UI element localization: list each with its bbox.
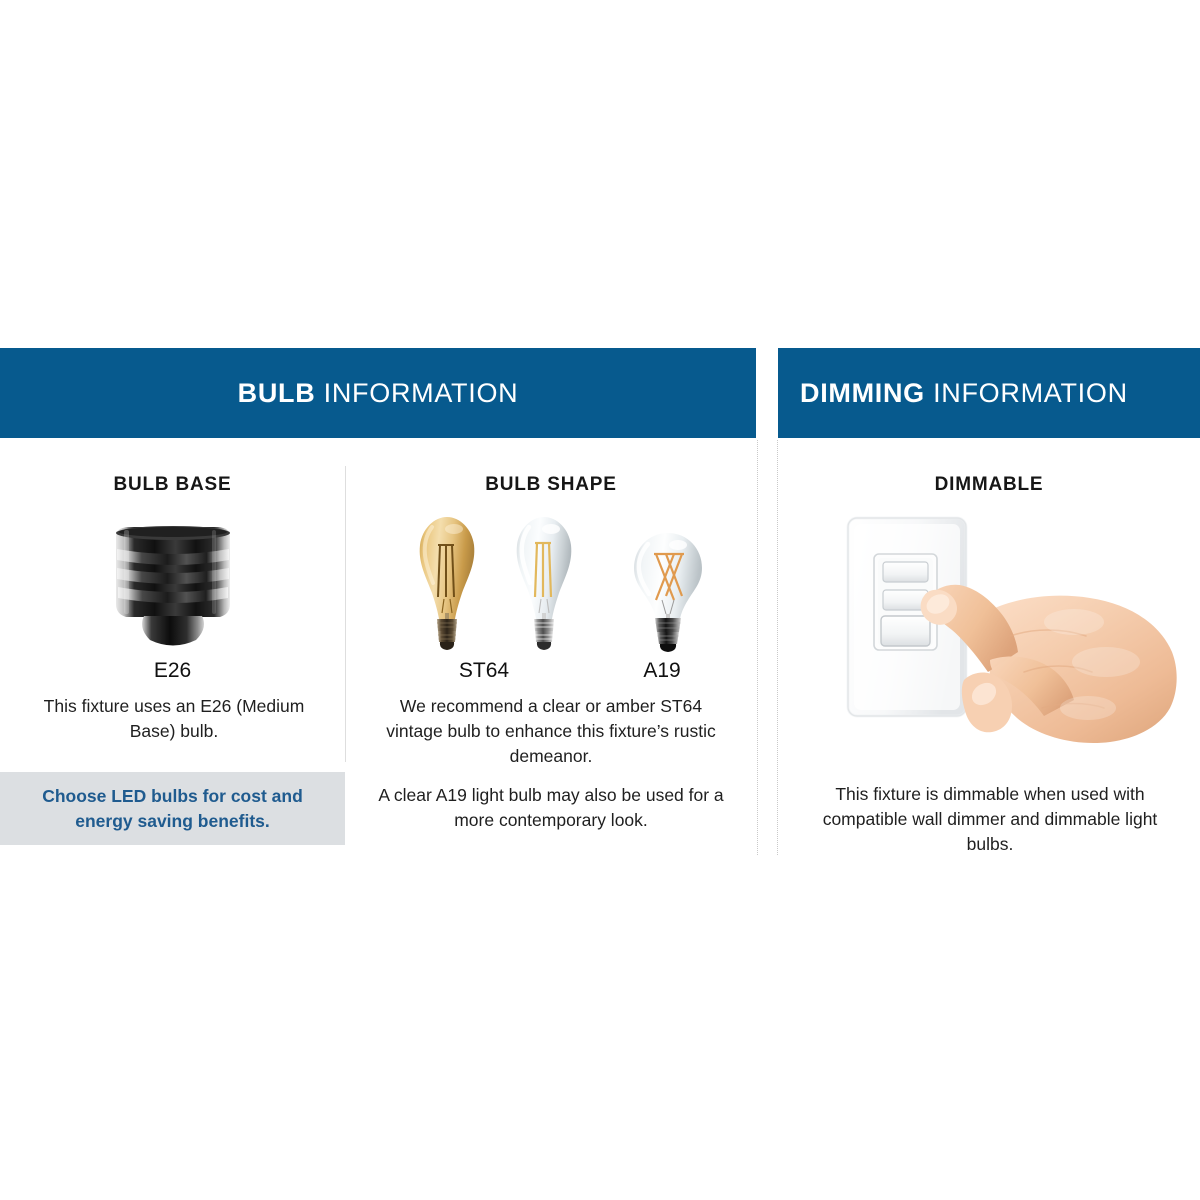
dimming-information-title-light: INFORMATION <box>933 378 1128 408</box>
bulb-information-title-light: INFORMATION <box>324 378 519 408</box>
bulb-shape-description-primary: We recommend a clear or amber ST64 vinta… <box>376 694 726 769</box>
a19-clear-bulb-photo <box>622 530 714 654</box>
bulb-information-title-strong: BULB <box>238 378 316 408</box>
bulb-and-dimming-information-panel: BULB INFORMATION DIMMING INFORMATION BUL… <box>0 0 1200 1200</box>
st64-amber-bulb-photo <box>396 513 498 653</box>
st64-spec-label: ST64 <box>424 659 544 683</box>
bulb-shape-heading: BULB SHAPE <box>346 474 756 496</box>
wall-dimmer-switch-photo <box>838 512 1180 767</box>
dimmable-description: This fixture is dimmable when used with … <box>798 782 1182 857</box>
dimming-information-header-band: DIMMING INFORMATION <box>778 348 1200 438</box>
bulb-information-title: BULB INFORMATION <box>238 378 519 409</box>
led-callout-box: Choose LED bulbs for cost and energy sav… <box>0 772 345 845</box>
dimmable-heading: DIMMABLE <box>778 474 1200 496</box>
bulb-shape-description-secondary: A clear A19 light bulb may also be used … <box>376 783 726 833</box>
e26-spec-label: E26 <box>0 659 345 683</box>
a19-spec-label: A19 <box>610 659 714 683</box>
dimming-information-title: DIMMING INFORMATION <box>800 378 1128 409</box>
bulb-base-description: This fixture uses an E26 (Medium Base) b… <box>24 694 324 744</box>
st64-clear-bulb-photo <box>494 513 594 653</box>
bulb-columns-divider <box>345 466 346 762</box>
led-callout-text: Choose LED bulbs for cost and energy sav… <box>23 784 323 834</box>
section-dotted-divider-right <box>777 440 779 855</box>
dimming-information-title-strong: DIMMING <box>800 378 925 408</box>
section-dotted-divider-left <box>757 440 759 855</box>
e26-bulb-base-photo <box>108 524 238 650</box>
bulb-base-heading: BULB BASE <box>0 474 345 496</box>
bulb-information-header-band: BULB INFORMATION <box>0 348 756 438</box>
